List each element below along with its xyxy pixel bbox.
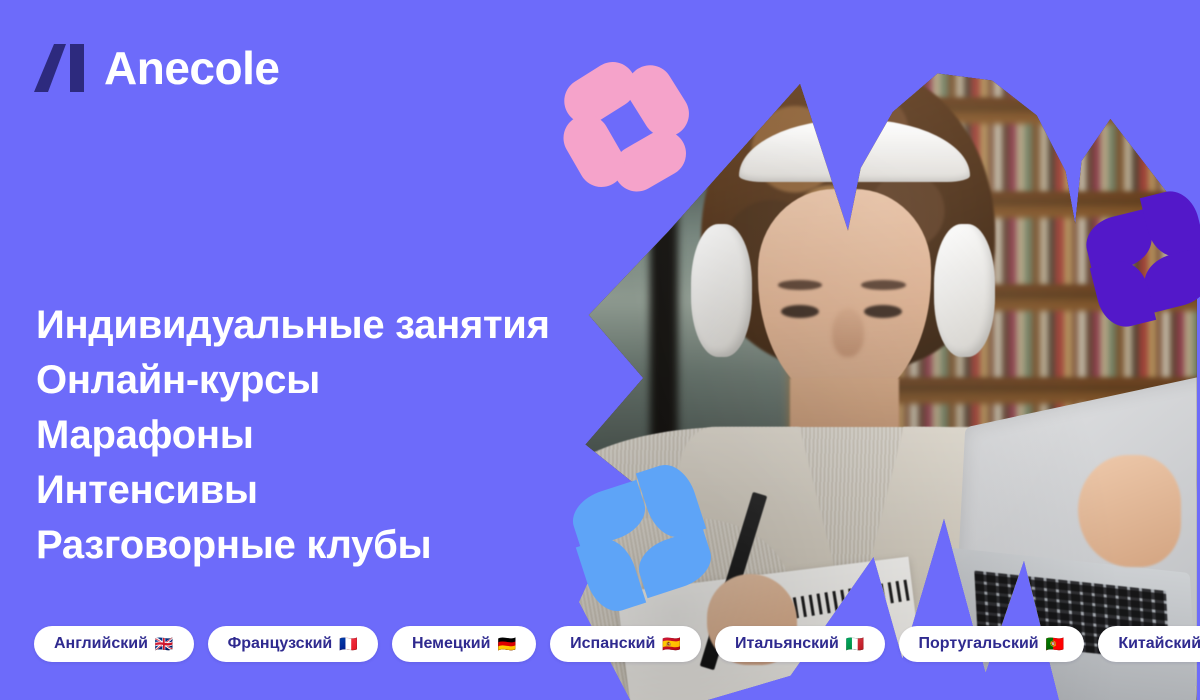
headline-line-2: Онлайн-курсы [36,353,596,408]
flag-es-icon: 🇪🇸 [662,637,681,652]
language-chip-label: Итальянский [735,636,839,652]
flag-fr-icon: 🇫🇷 [339,637,358,652]
language-chip-spanish[interactable]: Испанский 🇪🇸 [550,626,701,662]
flag-gb-icon: 🇬🇧 [155,637,174,652]
language-chip-label: Французский [228,636,333,652]
language-chip-label: Английский [54,636,148,652]
language-chip-portuguese[interactable]: Португальский 🇵🇹 [899,626,1085,662]
promo-banner: Anecole Индивидуальные занятия Онлайн-ку… [0,0,1200,700]
language-chip-label: Немецкий [412,636,491,652]
language-chip-italian[interactable]: Итальянский 🇮🇹 [715,626,885,662]
pink-bloom-shape-icon [558,52,700,204]
language-chip-french[interactable]: Французский 🇫🇷 [208,626,378,662]
headline-block: Индивидуальные занятия Онлайн-курсы Мара… [36,298,596,573]
purple-bloom-shape-icon [1092,196,1200,330]
headline-line-4: Интенсивы [36,463,596,518]
language-chip-label: Испанский [570,636,655,652]
language-chip-label: Португальский [919,636,1039,652]
headline-line-3: Марафоны [36,408,596,463]
ai-monogram-icon [34,44,86,92]
headline-line-5: Разговорные клубы [36,518,596,573]
language-chip-english[interactable]: Английский 🇬🇧 [34,626,194,662]
brand-logo[interactable]: Anecole [34,44,279,92]
language-chip-label: Китайский [1118,636,1200,652]
headline-line-1: Индивидуальные занятия [36,298,596,353]
language-chip-list: Английский 🇬🇧 Французский 🇫🇷 Немецкий 🇩🇪… [34,626,1200,662]
language-chip-chinese[interactable]: Китайский 🇨🇳 [1098,626,1200,662]
flag-it-icon: 🇮🇹 [846,637,865,652]
flag-pt-icon: 🇵🇹 [1046,637,1065,652]
language-chip-german[interactable]: Немецкий 🇩🇪 [392,626,536,662]
flag-de-icon: 🇩🇪 [497,637,516,652]
brand-name: Anecole [104,45,279,91]
